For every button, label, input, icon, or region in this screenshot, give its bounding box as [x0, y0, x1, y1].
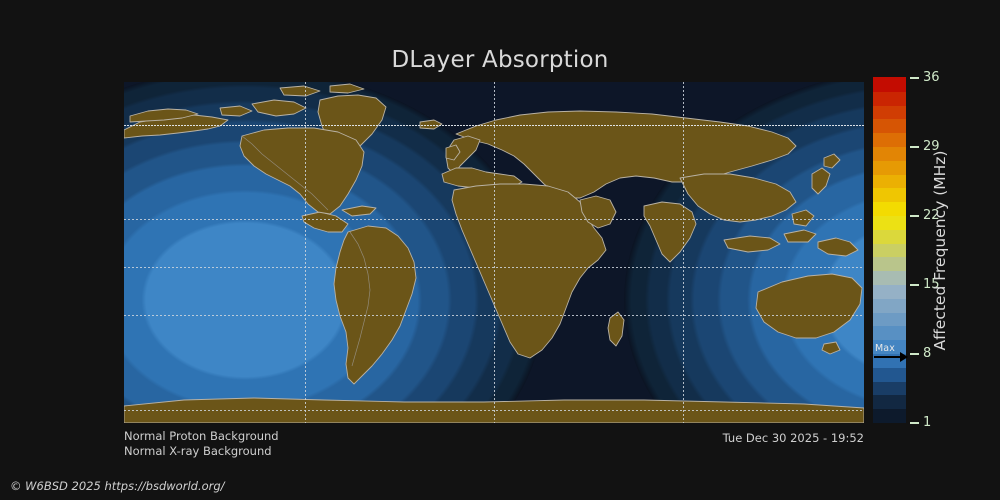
- colorbar-gradient: [873, 78, 906, 423]
- colorbar-tick-dash: [910, 422, 919, 424]
- colorbar-band: [873, 380, 906, 395]
- colorbar-tick-dash: [910, 284, 919, 286]
- colorbar-band: [873, 215, 906, 230]
- max-marker-label: Max: [875, 343, 895, 354]
- colorbar-band: [873, 367, 906, 382]
- copyright-footer: © W6BSD 2025 https://bsdworld.org/: [10, 479, 225, 493]
- colorbar-band: [873, 270, 906, 285]
- colorbar-band: [873, 201, 906, 216]
- colorbar-band: [873, 173, 906, 188]
- max-marker-arrow-shaft: [874, 356, 902, 358]
- colorbar-band: [873, 311, 906, 326]
- dlayer-absorption-app: DLayer Absorption: [0, 0, 1000, 500]
- colorbar-band: [873, 325, 906, 340]
- colorbar-band: [873, 298, 906, 313]
- colorbar-band: [873, 394, 906, 409]
- timestamp: Tue Dec 30 2025 - 19:52: [723, 431, 864, 446]
- map-canvas: [124, 82, 864, 423]
- colorbar-band: [873, 104, 906, 119]
- colorbar-band: [873, 146, 906, 161]
- colorbar-band: [873, 229, 906, 244]
- colorbar-band: [873, 77, 906, 92]
- colorbar-band: [873, 91, 906, 106]
- colorbar[interactable]: 1815222936 Max: [873, 78, 906, 423]
- colorbar-tick-dash: [910, 146, 919, 148]
- colorbar-band: [873, 160, 906, 175]
- colorbar-band: [873, 187, 906, 202]
- colorbar-band: [873, 408, 906, 423]
- colorbar-band: [873, 132, 906, 147]
- colorbar-axis-label: Affected Frequency (MHz): [925, 78, 955, 423]
- colorbar-band: [873, 284, 906, 299]
- colorbar-band: [873, 256, 906, 271]
- max-marker: Max: [873, 344, 917, 368]
- status-captions: Normal Proton Background Normal X-ray Ba…: [124, 429, 279, 458]
- world-map[interactable]: [124, 82, 864, 423]
- colorbar-band: [873, 118, 906, 133]
- page-title: DLayer Absorption: [0, 47, 1000, 73]
- xray-background-status: Normal X-ray Background: [124, 444, 279, 459]
- colorbar-tick-dash: [910, 215, 919, 217]
- colorbar-band: [873, 242, 906, 257]
- colorbar-tick-dash: [910, 77, 919, 79]
- max-marker-arrow-head: [900, 352, 908, 362]
- proton-background-status: Normal Proton Background: [124, 429, 279, 444]
